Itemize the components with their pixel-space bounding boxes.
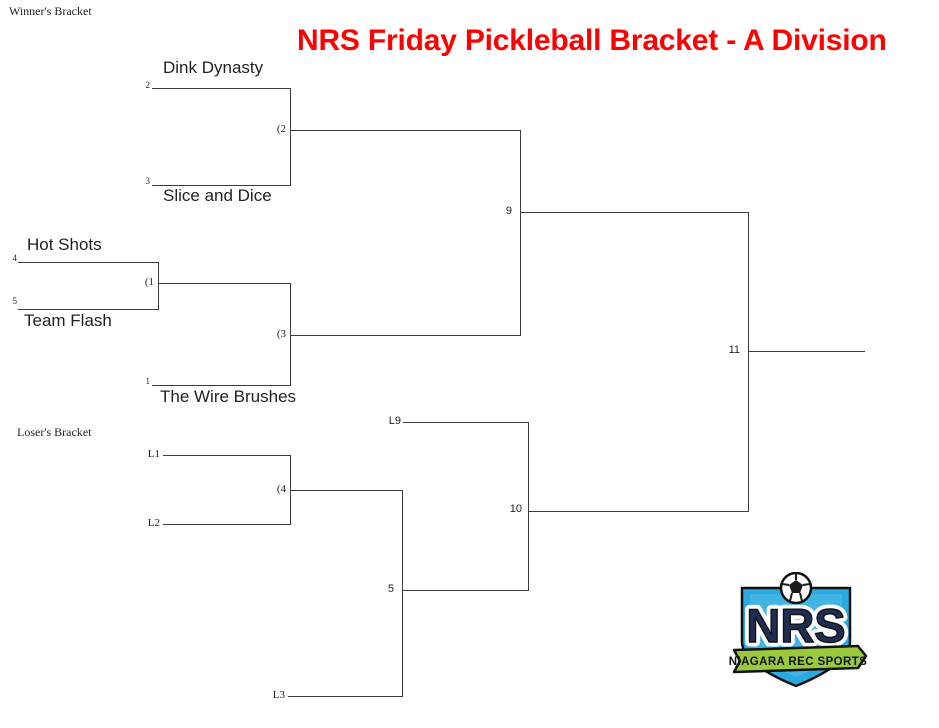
match-label-3: (3	[258, 328, 286, 340]
losers-bracket-heading: Loser's Bracket	[17, 425, 91, 440]
match-label-1: (1	[128, 276, 154, 288]
slot-line-team-flash	[18, 309, 159, 310]
slot-line-the-wire-brushes	[152, 385, 291, 386]
slot-label-l1: L1	[140, 448, 160, 460]
team-name-hot-shots: Hot Shots	[27, 235, 102, 255]
slot-label-l3: L3	[265, 689, 285, 701]
slot-line-l3	[288, 696, 403, 697]
seed-dink-dynasty: 2	[138, 80, 150, 90]
team-name-the-wire-brushes: The Wire Brushes	[160, 387, 296, 407]
seed-the-wire-brushes: 1	[138, 376, 150, 386]
match-label-10: 10	[502, 503, 522, 515]
match-label-2: (2	[258, 123, 286, 135]
seed-hot-shots: 4	[5, 253, 17, 263]
slot-label-l9: L9	[381, 415, 401, 427]
bracket-page: Winner's Bracket Loser's Bracket NRS Fri…	[0, 0, 939, 728]
logo-ribbon-text: NIAGARA REC SPORTS	[729, 656, 867, 668]
match-connector-1	[158, 262, 159, 310]
slot-line-l1	[163, 455, 291, 456]
slot-line-dink-dynasty	[152, 88, 291, 89]
match-label-9: 9	[492, 205, 512, 217]
slot-line-l9	[403, 422, 529, 423]
match-label-5: 5	[378, 583, 394, 595]
slot-line-hot-shots	[18, 262, 159, 263]
feed-line-match-10-to-11	[528, 511, 749, 512]
champion-line	[748, 351, 865, 352]
seed-team-flash: 5	[5, 296, 17, 306]
team-name-slice-and-dice: Slice and Dice	[163, 186, 272, 206]
nrs-logo-svg: NRS NRS NIAGARA REC SPORTS	[716, 572, 876, 692]
feed-line-match-1-to-3	[158, 283, 291, 284]
match-connector-10	[528, 422, 529, 591]
nrs-logo: NRS NRS NIAGARA REC SPORTS	[716, 572, 876, 692]
match-connector-5	[402, 490, 403, 697]
logo-text: NRS	[746, 599, 845, 652]
match-connector-2	[290, 88, 291, 186]
page-title: NRS Friday Pickleball Bracket - A Divisi…	[297, 24, 887, 58]
slot-line-l2	[163, 524, 291, 525]
slot-label-l2: L2	[140, 517, 160, 529]
feed-line-match-9-to-11	[520, 212, 749, 213]
feed-line-match-5-to-10	[402, 590, 529, 591]
team-name-team-flash: Team Flash	[24, 311, 112, 331]
winners-bracket-heading: Winner's Bracket	[9, 4, 92, 19]
match-label-11: 11	[718, 344, 740, 356]
feed-line-match-4-to-5	[290, 490, 403, 491]
match-connector-9	[520, 130, 521, 336]
seed-slice-and-dice: 3	[138, 176, 150, 186]
feed-line-match-3-to-9	[290, 335, 521, 336]
match-connector-11	[748, 212, 749, 511]
feed-line-match-2-to-9	[290, 130, 521, 131]
match-label-4: (4	[258, 483, 286, 495]
team-name-dink-dynasty: Dink Dynasty	[163, 58, 263, 78]
